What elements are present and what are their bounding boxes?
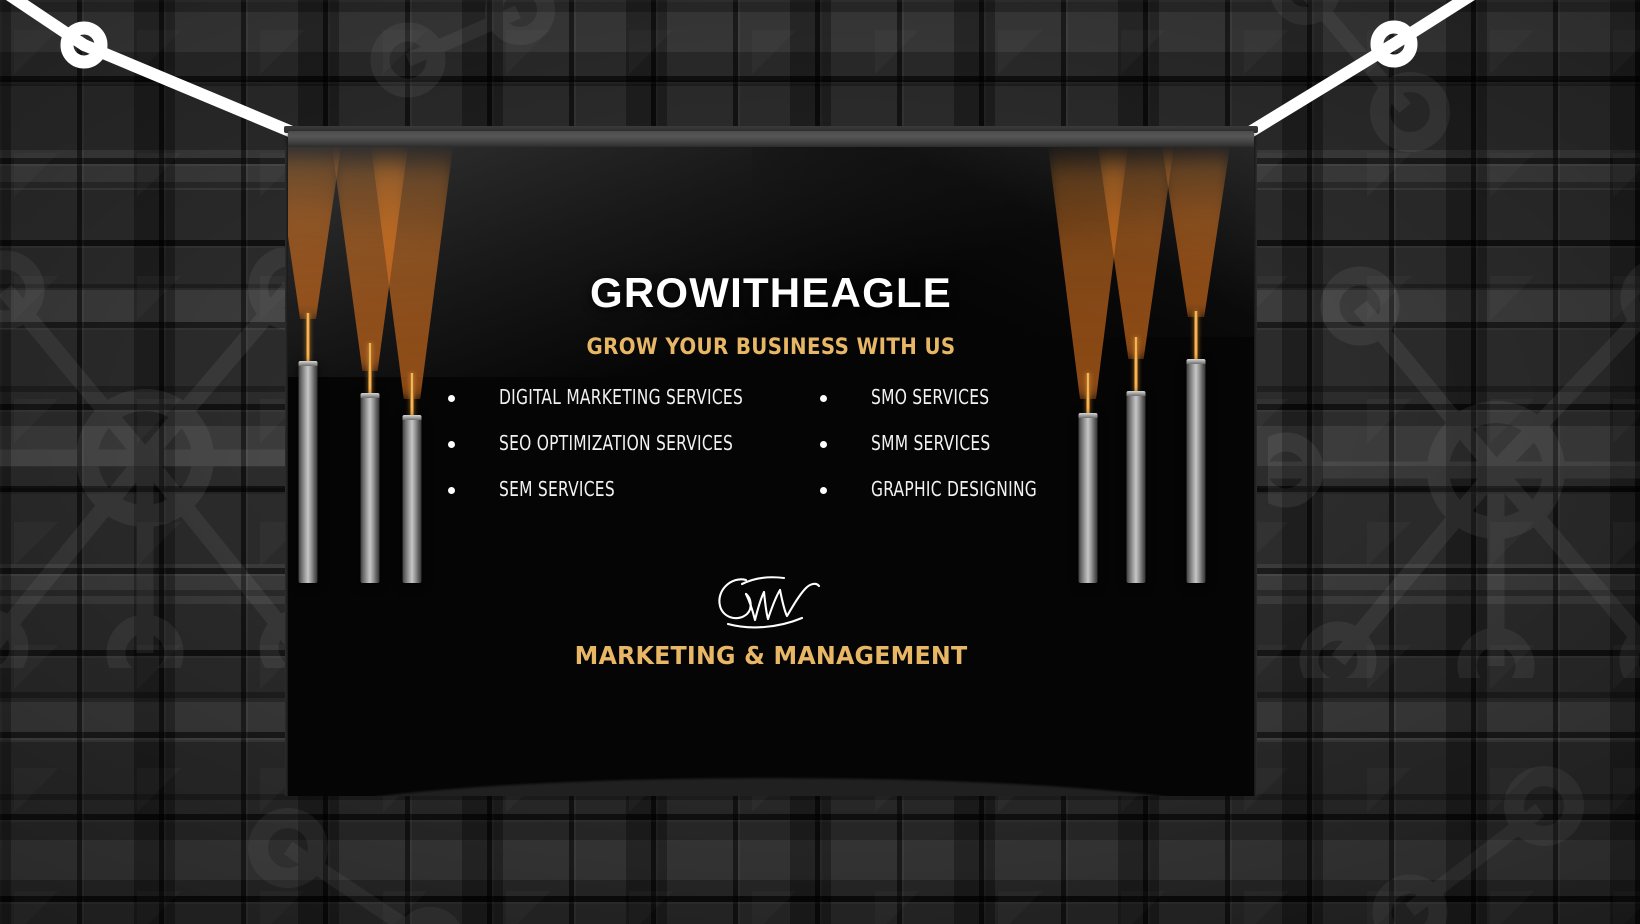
list-item[interactable]: SEO OPTIMIZATION SERVICES [448,431,758,459]
service-label: SMM SERVICES [871,431,991,455]
bullet-icon [820,395,827,402]
list-item[interactable]: DIGITAL MARKETING SERVICES [448,385,758,413]
tagline: GROW YOUR BUSINESS WITH US [336,335,1205,360]
list-item[interactable]: SEM SERVICES [448,477,758,505]
service-label: DIGITAL MARKETING SERVICES [499,385,743,409]
panel-content: GROWITHEAGLE GROW YOUR BUSINESS WITH US … [288,147,1254,796]
signature [288,572,1254,632]
services-column-right: SMO SERVICES SMM SERVICES GRAPHIC DESIGN… [820,385,1130,523]
service-label: SEO OPTIMIZATION SERVICES [499,431,733,455]
services-column-left: DIGITAL MARKETING SERVICES SEO OPTIMIZAT… [448,385,758,523]
bullet-icon [820,441,827,448]
service-label: GRAPHIC DESIGNING [871,477,1037,501]
list-item[interactable]: SMO SERVICES [820,385,1130,413]
poster-stage: GROWITHEAGLE GROW YOUR BUSINESS WITH US … [0,0,1640,924]
bullet-icon [448,441,455,448]
signature-icon [706,572,836,634]
footer-caption: MARKETING & MANAGEMENT [312,641,1230,670]
bullet-icon [448,395,455,402]
list-item[interactable]: GRAPHIC DESIGNING [820,477,1130,505]
bullet-icon [448,487,455,494]
service-label: SEM SERVICES [499,477,615,501]
panel-screen: GROWITHEAGLE GROW YOUR BUSINESS WITH US … [288,147,1254,796]
display-panel: GROWITHEAGLE GROW YOUR BUSINESS WITH US … [288,131,1254,796]
service-label: SMO SERVICES [871,385,989,409]
bullet-icon [820,487,827,494]
services-lists: DIGITAL MARKETING SERVICES SEO OPTIMIZAT… [448,385,1148,523]
list-item[interactable]: SMM SERVICES [820,431,1130,459]
panel-top-rail [288,131,1254,147]
page-title: GROWITHEAGLE [288,269,1254,317]
